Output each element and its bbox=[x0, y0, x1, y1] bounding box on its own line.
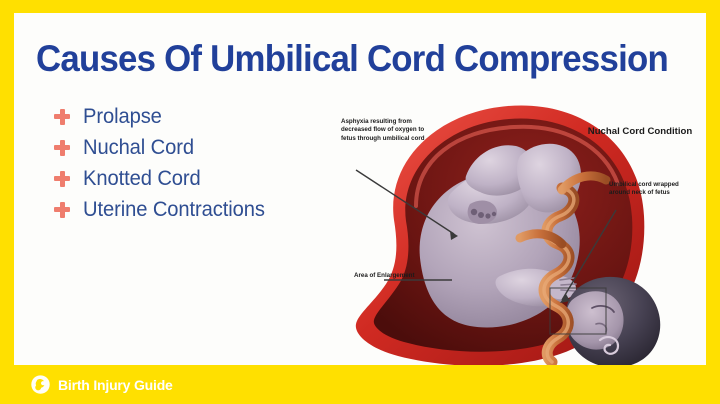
brand-lockup[interactable]: Birth Injury Guide bbox=[30, 374, 173, 395]
callout-cord-wrapped-around-neck: Umbilical cord wrapped around neck of fe… bbox=[609, 181, 689, 198]
medical-cross-icon bbox=[54, 109, 70, 125]
birth-injury-guide-logo-icon bbox=[30, 374, 51, 395]
callout-nuchal-cord-condition: Nuchal Cord Condition bbox=[586, 126, 694, 139]
footer-bar: Birth Injury Guide bbox=[0, 365, 720, 404]
causes-list: Prolapse Nuchal Cord Knotted Cord Uterin… bbox=[54, 101, 272, 225]
list-item: Uterine Contractions bbox=[54, 194, 272, 225]
fetus-toe bbox=[492, 212, 496, 216]
list-item: Nuchal Cord bbox=[54, 132, 272, 163]
cause-label: Uterine Contractions bbox=[83, 198, 265, 222]
fetus-toe bbox=[485, 213, 490, 218]
infographic-canvas: Causes Of Umbilical Cord Compression Pro… bbox=[0, 0, 720, 404]
fetus-toe bbox=[471, 209, 477, 215]
cause-label: Knotted Cord bbox=[83, 167, 201, 191]
medical-cross-icon bbox=[54, 140, 70, 156]
brand-name: Birth Injury Guide bbox=[58, 377, 173, 393]
list-item: Prolapse bbox=[54, 101, 272, 132]
page-title: Causes Of Umbilical Cord Compression bbox=[36, 39, 668, 79]
list-item: Knotted Cord bbox=[54, 163, 272, 194]
callout-asphyxia: Asphyxia resulting from decreased flow o… bbox=[341, 118, 427, 143]
cause-label: Prolapse bbox=[83, 105, 162, 129]
fetus-toe bbox=[478, 212, 484, 218]
medical-cross-icon bbox=[54, 202, 70, 218]
cause-label: Nuchal Cord bbox=[83, 136, 194, 160]
content-panel: Causes Of Umbilical Cord Compression Pro… bbox=[14, 13, 706, 365]
nuchal-cord-fetus-in-uterus-illustration: Asphyxia resulting from decreased flow o… bbox=[324, 88, 706, 365]
medical-cross-icon bbox=[54, 171, 70, 187]
callout-area-of-enlargement: Area of Enlargement bbox=[354, 272, 424, 280]
